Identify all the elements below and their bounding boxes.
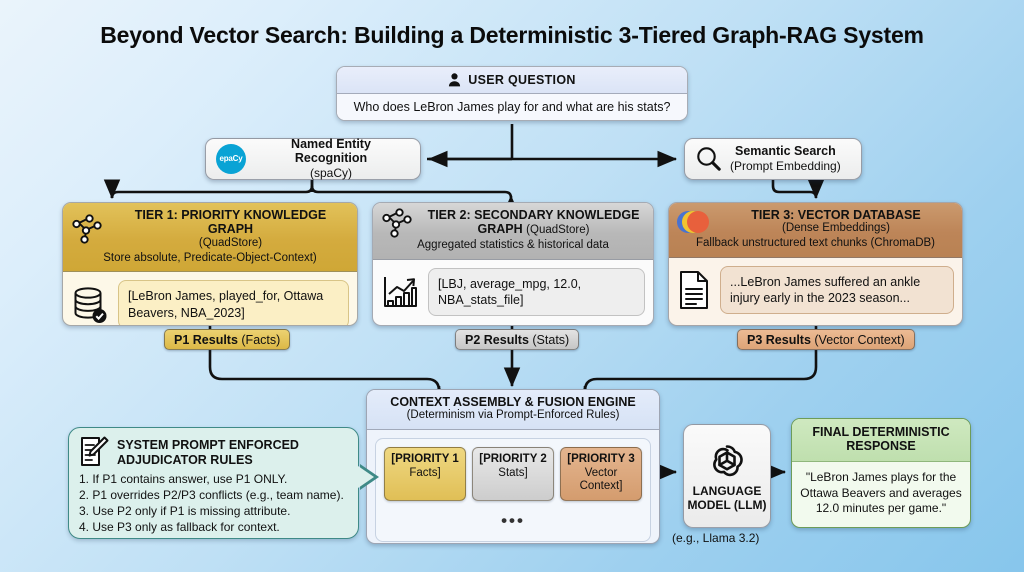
tier3-subtitle2: Fallback unstructured text chunks (Chrom… [676, 237, 955, 251]
language-model-node: LANGUAGE MODEL (LLM) [683, 424, 771, 528]
tier2-subtitle2: Aggregated statistics & historical data [380, 239, 646, 253]
priority-3-label: Vector Context] [566, 467, 636, 494]
user-question-text: Who does LeBron James play for and what … [337, 94, 687, 120]
openai-swirl-icon [707, 440, 747, 480]
priority-2-chip: [PRIORITY 2 Stats] [472, 447, 554, 501]
rules-title: SYSTEM PROMPT ENFORCED ADJUDICATOR RULES [117, 436, 348, 468]
user-question-label: USER QUESTION [468, 73, 575, 87]
semantic-search-title: Semantic Search [730, 144, 841, 159]
priority-2-tag: [PRIORITY 2 [478, 453, 548, 467]
fusion-ellipsis: ••• [376, 517, 650, 525]
spacy-logo-text: epaCy [219, 154, 242, 163]
diagram-canvas: Beyond Vector Search: Building a Determi… [0, 0, 1024, 572]
tier1-snippet: [LeBron James, played_for, Ottawa Beaver… [118, 280, 349, 326]
fusion-header: CONTEXT ASSEMBLY & FUSION ENGINE (Determ… [367, 390, 659, 430]
p3-results-badge: P3 Results (Vector Context) [737, 329, 915, 350]
final-response-card: FINAL DETERMINISTIC RESPONSE "LeBron Jam… [791, 418, 971, 528]
tier3-snippet: ...LeBron James suffered an ankle injury… [720, 266, 954, 315]
p2-badge-bold: P2 Results [465, 333, 529, 347]
chromadb-logo-icon [676, 208, 710, 236]
note-pencil-icon [79, 436, 109, 468]
p3-badge-normal: (Vector Context) [811, 333, 905, 347]
priority-2-label: Stats] [478, 467, 548, 481]
rule-line-2: 2. P1 overrides P2/P3 conflicts (e.g., t… [79, 488, 348, 504]
tier2-card: TIER 2: SECONDARY KNOWLEDGE GRAPH (QuadS… [372, 202, 654, 326]
user-icon [448, 73, 461, 87]
document-lines-icon [677, 270, 711, 310]
tier1-title: TIER 1: PRIORITY KNOWLEDGE GRAPH [111, 208, 350, 237]
p2-badge-normal: (Stats) [529, 333, 569, 347]
tier1-body: [LeBron James, played_for, Ottawa Beaver… [63, 272, 357, 326]
tier1-header: TIER 1: PRIORITY KNOWLEDGE GRAPH (QuadSt… [63, 203, 357, 272]
p1-badge-normal: (Facts) [238, 333, 280, 347]
ner-subtitle: (spaCy) [254, 166, 408, 180]
spacy-logo-icon: epaCy [216, 144, 246, 174]
tier3-subtitle: (Dense Embeddings) [717, 222, 955, 236]
p1-results-badge: P1 Results (Facts) [164, 329, 290, 350]
fusion-context-stack: [PRIORITY 1 Facts] [PRIORITY 2 Stats] [P… [375, 438, 651, 542]
magnifier-icon [695, 145, 722, 172]
tier1-subtitle: (QuadStore) [111, 237, 350, 251]
rule-line-1: 1. If P1 contains answer, use P1 ONLY. [79, 472, 348, 488]
tier1-card: TIER 1: PRIORITY KNOWLEDGE GRAPH (QuadSt… [62, 202, 358, 326]
graph-nodes-icon [380, 208, 414, 238]
ner-text: Named Entity Recognition (spaCy) [254, 137, 408, 181]
p1-badge-bold: P1 Results [174, 333, 238, 347]
context-assembly-fusion-engine: CONTEXT ASSEMBLY & FUSION ENGINE (Determ… [366, 389, 660, 544]
p2-results-badge: P2 Results (Stats) [455, 329, 579, 350]
tier3-body: ...LeBron James suffered an ankle injury… [669, 258, 962, 323]
semantic-search-text: Semantic Search (Prompt Embedding) [730, 144, 841, 173]
tier2-body: [LBJ, average_mpg, 12.0, NBA_stats_file] [373, 260, 653, 325]
fusion-subtitle: (Determinism via Prompt-Enforced Rules) [375, 409, 651, 423]
semantic-search-node: Semantic Search (Prompt Embedding) [684, 138, 862, 180]
priority-3-chip: [PRIORITY 3 Vector Context] [560, 447, 642, 501]
tier2-subtitle: (QuadStore) [526, 224, 589, 236]
tier2-title-line2: GRAPH (QuadStore) [421, 222, 646, 238]
tier2-title: TIER 2: SECONDARY KNOWLEDGE [421, 208, 646, 222]
priority-row: [PRIORITY 1 Facts] [PRIORITY 2 Stats] [P… [384, 447, 642, 501]
final-response-header: FINAL DETERMINISTIC RESPONSE [792, 419, 970, 462]
tier2-snippet: [LBJ, average_mpg, 12.0, NBA_stats_file] [428, 268, 645, 317]
rule-line-3: 3. Use P2 only if P1 is missing attribut… [79, 504, 348, 520]
tier3-title: TIER 3: VECTOR DATABASE [717, 208, 955, 222]
p3-badge-bold: P3 Results [747, 333, 811, 347]
priority-1-chip: [PRIORITY 1 Facts] [384, 447, 466, 501]
page-title: Beyond Vector Search: Building a Determi… [0, 22, 1024, 49]
final-response-title: FINAL DETERMINISTIC RESPONSE [798, 425, 964, 454]
adjudicator-rules-bubble: SYSTEM PROMPT ENFORCED ADJUDICATOR RULES… [68, 427, 359, 539]
bar-chart-trend-icon [381, 273, 419, 311]
llm-label: LANGUAGE MODEL (LLM) [684, 484, 770, 513]
graph-nodes-icon [70, 214, 104, 244]
llm-note: (e.g., Llama 3.2) [672, 531, 852, 545]
user-question-header: USER QUESTION [337, 67, 687, 94]
priority-1-label: Facts] [390, 467, 460, 481]
rules-header: SYSTEM PROMPT ENFORCED ADJUDICATOR RULES [79, 436, 348, 468]
tier3-header: TIER 3: VECTOR DATABASE (Dense Embedding… [669, 203, 962, 258]
named-entity-recognition-node: epaCy Named Entity Recognition (spaCy) [205, 138, 421, 180]
tier2-header: TIER 2: SECONDARY KNOWLEDGE GRAPH (QuadS… [373, 203, 653, 260]
ner-title: Named Entity Recognition [254, 137, 408, 167]
rule-line-4: 4. Use P3 only as fallback for context. [79, 520, 348, 536]
tier3-card: TIER 3: VECTOR DATABASE (Dense Embedding… [668, 202, 963, 326]
tier1-subtitle2: Store absolute, Predicate-Object-Context… [70, 252, 350, 266]
semantic-search-subtitle: (Prompt Embedding) [730, 159, 841, 173]
priority-1-tag: [PRIORITY 1 [390, 453, 460, 467]
fusion-title: CONTEXT ASSEMBLY & FUSION ENGINE [375, 395, 651, 409]
tier2-title2: GRAPH [478, 222, 523, 236]
final-response-text: "LeBron James plays for the Ottawa Beave… [792, 462, 970, 525]
user-question-card: USER QUESTION Who does LeBron James play… [336, 66, 688, 121]
database-check-icon [71, 285, 109, 325]
priority-3-tag: [PRIORITY 3 [566, 453, 636, 467]
rules-bubble-tail-fill [358, 466, 374, 488]
